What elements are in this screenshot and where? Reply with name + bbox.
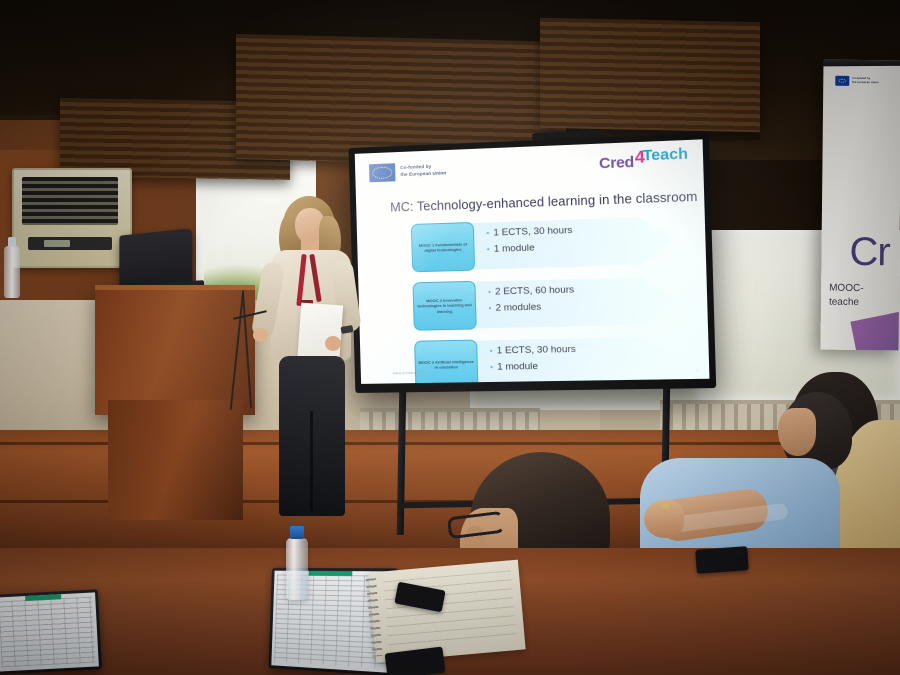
row-bullets: 1 ECTS, 30 hours 1 module [486,219,676,257]
presentation-slide: Co-funded by the European Union Cred 4 T… [355,139,710,384]
banner-eu-text: Co-funded by the European Union [852,77,879,85]
ac-display [44,240,70,247]
smartphone[interactable] [695,546,749,574]
mooc-pill: MOOC 1 Fundamentals of digital technolog… [411,222,475,272]
banner-subline: MOOC- teache [829,282,864,309]
mooc-pill-label: MOOC 2 Innovative technologies in teachi… [416,297,473,314]
presenter-wristwatch [340,325,353,334]
slide-footer-url: www.cred4teach.eu [393,371,428,376]
eu-cofunded-logo: Co-funded by the European Union [369,161,447,182]
ac-control-panel[interactable] [28,237,112,250]
banner-headline: Cr [849,230,890,275]
slide-row: MOOC 1 Fundamentals of digital technolog… [397,212,710,277]
banner-eu-logo: Co-funded by the European Union [835,76,879,86]
mooc-pill: MOOC 3 Artificial intelligence in educat… [414,340,478,384]
logo-teach-text: Teach [643,145,689,164]
notepad[interactable] [368,560,525,663]
mooc-pill-label: MOOC 3 Artificial intelligence in educat… [418,359,475,371]
lectern-base [108,400,243,520]
presenter-hand-right [325,336,341,351]
air-conditioner-unit[interactable] [12,168,132,268]
logo-cred-text: Cred [599,154,634,173]
laptop-left-screen [0,592,99,671]
slide-title: MC: Technology-enhanced learning in the … [390,190,698,215]
eu-flag-icon [835,76,849,86]
presenter-leg-split [310,411,313,511]
slide-rows: MOOC 1 Fundamentals of digital technolog… [397,212,710,384]
eu-flag-icon [369,163,396,182]
rollup-banner: Co-funded by the European Union Cr MOOC-… [820,60,900,351]
slide-row: MOOC 3 Artificial intelligence in educat… [400,333,710,384]
water-bottle[interactable] [286,538,308,600]
row-bullets: 1 ECTS, 30 hours 1 module [489,340,679,375]
eu-stars-icon [372,166,392,179]
ac-vent-icon [22,177,118,225]
mooc-pill-label: MOOC 1 Fundamentals of digital technolog… [414,241,471,253]
laptop-left[interactable] [0,589,102,674]
eu-stars-icon [838,79,846,83]
cred4teach-logo: Cred 4 Teach [599,148,689,172]
spreadsheet-columns [0,597,96,668]
water-bottle-podium[interactable] [4,246,20,298]
bullet-item: 1 module [490,356,679,375]
slide-row: MOOC 2 Innovative technologies in teachi… [398,272,709,335]
presenter-speaker [255,196,365,516]
window-blind-right[interactable] [540,18,760,133]
slide-page-number: 3 [696,367,699,372]
row-bullets: 2 ECTS, 60 hours 2 modules [488,280,678,316]
television-display[interactable]: Co-funded by the European Union Cred 4 T… [349,133,717,393]
bottle-cap[interactable] [290,526,304,539]
presentation-room-photo: Co-funded by the European Union Cred 4 T… [0,0,900,675]
banner-accent-shape [850,308,900,351]
attendee-blue-ring [662,504,669,509]
banner-top-rail [820,60,900,67]
attendee-blue-face [778,408,816,456]
tv-bezel: Co-funded by the European Union Cred 4 T… [349,133,717,393]
eu-cofunded-text: Co-funded by the European Union [400,164,446,179]
presenter-hand-left [253,328,268,342]
mooc-pill: MOOC 2 Innovative technologies in teachi… [412,281,476,331]
